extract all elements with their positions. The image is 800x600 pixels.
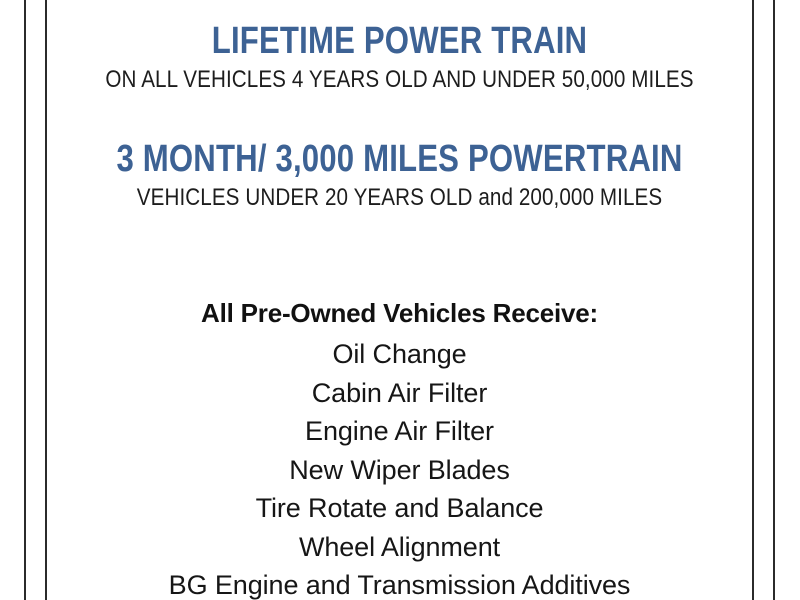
flyer-content: LIFETIME POWER TRAIN ON ALL VEHICLES 4 Y… [47, 0, 752, 600]
list-item: Wheel Alignment [47, 528, 752, 567]
promo-subtitle-3month-powertrain: VEHICLES UNDER 20 YEARS OLD and 200,000 … [96, 184, 702, 212]
border-rule-right-outer [773, 0, 775, 600]
services-list: Oil Change Cabin Air Filter Engine Air F… [47, 335, 752, 600]
list-item: New Wiper Blades [47, 451, 752, 490]
border-rule-left-outer [24, 0, 26, 600]
promo-block-lifetime-powertrain: LIFETIME POWER TRAIN ON ALL VEHICLES 4 Y… [47, 20, 752, 94]
promo-title-3month-powertrain: 3 MONTH/ 3,000 MILES POWERTRAIN [110, 138, 688, 180]
flyer-page: LIFETIME POWER TRAIN ON ALL VEHICLES 4 Y… [0, 0, 800, 600]
promo-title-lifetime-powertrain: LIFETIME POWER TRAIN [110, 20, 688, 62]
services-heading: All Pre-Owned Vehicles Receive: [47, 298, 752, 329]
list-item: BG Engine and Transmission Additives [47, 566, 752, 600]
services-section: All Pre-Owned Vehicles Receive: Oil Chan… [47, 298, 752, 600]
promo-subtitle-lifetime-powertrain: ON ALL VEHICLES 4 YEARS OLD AND UNDER 50… [96, 66, 702, 94]
border-rule-right-inner [752, 0, 754, 600]
list-item: Tire Rotate and Balance [47, 489, 752, 528]
list-item: Engine Air Filter [47, 412, 752, 451]
list-item: Cabin Air Filter [47, 374, 752, 413]
list-item: Oil Change [47, 335, 752, 374]
promo-block-3month-powertrain: 3 MONTH/ 3,000 MILES POWERTRAIN VEHICLES… [47, 138, 752, 212]
